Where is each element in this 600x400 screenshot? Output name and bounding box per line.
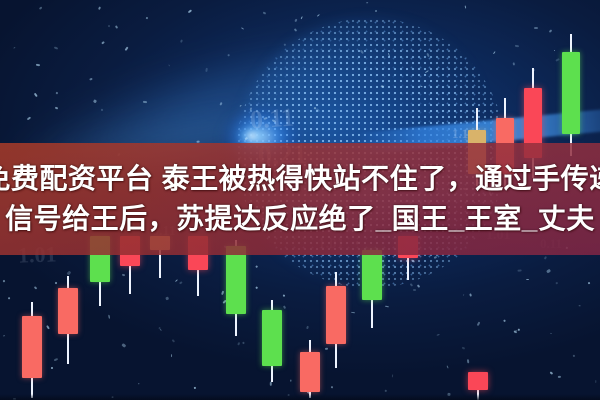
particle-dot (366, 2, 368, 3)
candlestick-body (562, 52, 580, 134)
candlestick-body (262, 310, 282, 366)
particle-dot (51, 367, 53, 369)
candlestick (362, 250, 382, 328)
particle-dot (108, 314, 110, 318)
particle-dot (35, 63, 39, 65)
headline-line-2: 信号给王后，苏提达反应绝了_国王_王室_丈夫 (5, 200, 595, 238)
candlestick (58, 276, 78, 364)
particle-dot (437, 333, 440, 335)
candlestick (22, 302, 42, 398)
candlestick-body (58, 288, 78, 334)
particle-dot (534, 27, 538, 30)
particle-dot (595, 380, 596, 383)
particle-dot (290, 380, 291, 382)
particle-dot (413, 289, 416, 291)
particle-dot (227, 54, 229, 56)
candlestick-body (226, 246, 246, 314)
particle-dot (3, 334, 5, 336)
candlestick-body (362, 250, 382, 300)
particle-dot (270, 382, 272, 386)
article-thumbnail: 0.110.211.113.111.010.411.010.111.010.11… (0, 0, 600, 400)
headline-text-block: 免费配资平台 泰王被热得快站不住了，通过手传递 信号给王后，苏提达反应绝了_国王… (0, 143, 600, 255)
particle-dot (514, 44, 518, 46)
candlestick-body (22, 316, 42, 378)
bottom-edge-vignette (0, 394, 600, 400)
particle-dot (194, 387, 196, 389)
candlestick (300, 340, 320, 398)
candlestick (326, 272, 346, 368)
particle-dot (466, 359, 469, 363)
particle-dot (143, 101, 147, 103)
particle-dot (55, 91, 57, 93)
particle-dot (262, 11, 265, 14)
candlestick-body (468, 372, 488, 390)
particle-dot (391, 374, 393, 377)
particle-dot (381, 85, 384, 88)
candlestick-body (326, 286, 346, 344)
particle-dot (462, 346, 465, 349)
particle-dot (469, 293, 472, 297)
candlestick-body (300, 352, 320, 392)
particle-dot (385, 389, 387, 391)
candlestick (262, 300, 282, 382)
candlestick (562, 34, 580, 156)
headline-line-1: 免费配资平台 泰王被热得快站不住了，通过手传递 (0, 160, 600, 198)
